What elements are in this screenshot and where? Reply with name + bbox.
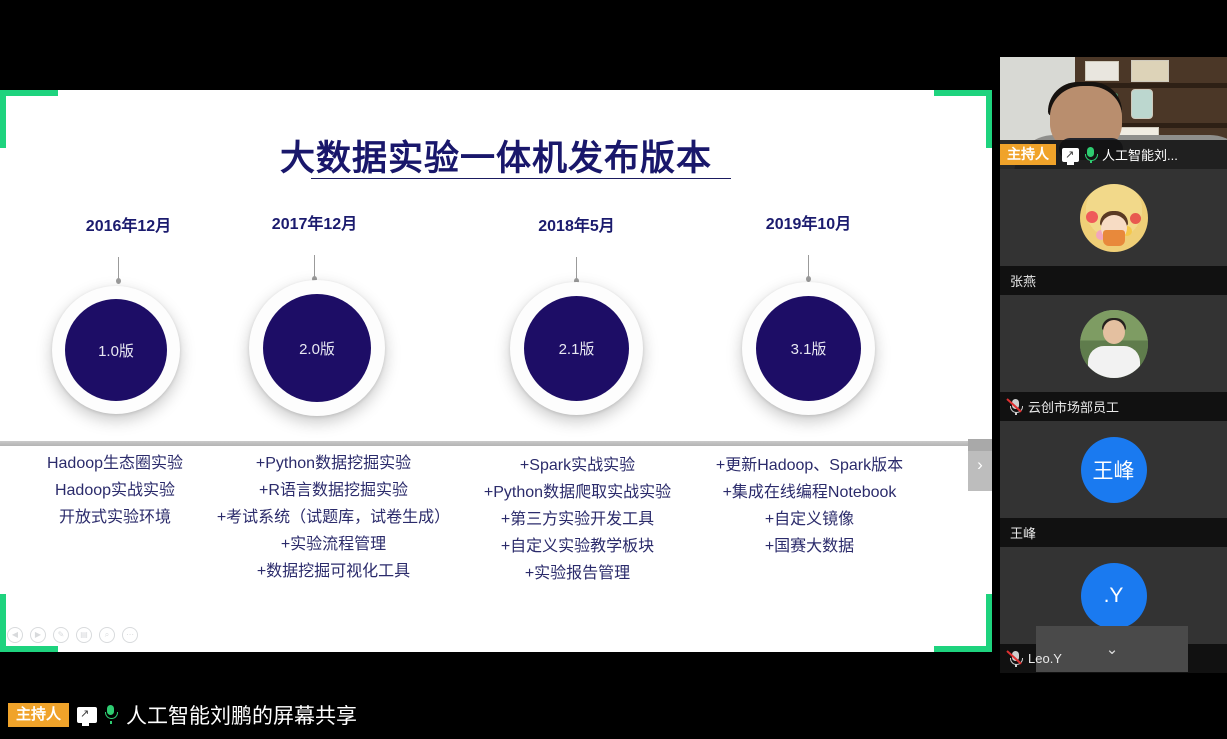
timeline-item: +第三方实验开发工具 bbox=[450, 506, 705, 533]
zoom-icon[interactable]: ⌕ bbox=[99, 627, 115, 643]
timeline-item: +自定义实验教学板块 bbox=[450, 533, 705, 560]
timeline-item: +Spark实战实验 bbox=[450, 452, 705, 479]
share-border-corner-bottom-right bbox=[934, 594, 992, 652]
expand-panel-chevron-right-icon[interactable]: › bbox=[968, 439, 992, 491]
share-status-title: 人工智能刘鹏的屏幕共享 bbox=[126, 700, 357, 730]
timeline-version-1: 1.0版 bbox=[98, 340, 134, 361]
timeline-date-1: 2016年12月 bbox=[56, 212, 201, 236]
participant-name-bar: 王峰 bbox=[1000, 518, 1227, 547]
avatar-initials: 王峰 bbox=[1081, 437, 1147, 503]
timeline-item: +数据挖掘可视化工具 bbox=[191, 558, 476, 585]
microphone-muted-icon bbox=[1010, 399, 1021, 415]
timeline-item: +更新Hadoop、Spark版本 bbox=[682, 452, 937, 479]
participant-name: 人工智能刘... bbox=[1102, 145, 1178, 164]
participant-name-bar: 张燕 bbox=[1000, 266, 1227, 295]
timeline-items-4: +更新Hadoop、Spark版本 +集成在线编程Notebook +自定义镜像… bbox=[682, 452, 937, 560]
timeline-date-3: 2018年5月 bbox=[504, 212, 649, 236]
host-name-bar: 主持人 ↗ 人工智能刘... bbox=[1000, 140, 1227, 169]
timeline-items-2: +Python数据挖掘实验 +R语言数据挖掘实验 +考试系统（试题库，试卷生成）… bbox=[191, 450, 476, 585]
slide-title: 大数据实验一体机发布版本 bbox=[0, 130, 992, 181]
timeline-item: +Python数据挖掘实验 bbox=[191, 450, 476, 477]
participant-name-bar: Leo.Y ⌄ bbox=[1000, 644, 1227, 673]
slide-title-underline bbox=[311, 178, 731, 179]
timeline-axis bbox=[0, 441, 992, 446]
timeline-item: +集成在线编程Notebook bbox=[682, 479, 937, 506]
avatar-initials: .Y bbox=[1081, 563, 1147, 629]
microphone-muted-icon bbox=[1010, 651, 1021, 667]
timeline-circle-4: 3.1版 bbox=[742, 282, 875, 415]
host-badge: 主持人 bbox=[8, 703, 69, 727]
participant-tile-wangfeng[interactable]: 王峰 王峰 bbox=[1000, 421, 1227, 547]
participant-tile-zhangyan[interactable]: 张燕 bbox=[1000, 169, 1227, 295]
share-status-bar: 主持人 ↗ 人工智能刘鹏的屏幕共享 bbox=[0, 690, 1008, 739]
host-video: 主持人 ↗ 人工智能刘... bbox=[1000, 57, 1227, 169]
microphone-icon bbox=[1085, 147, 1096, 163]
timeline-item: +考试系统（试题库，试卷生成） bbox=[191, 504, 476, 531]
timeline-item: +自定义镜像 bbox=[682, 506, 937, 533]
timeline-date-2: 2017年12月 bbox=[242, 210, 387, 234]
host-badge: 主持人 bbox=[1000, 144, 1056, 165]
avatar: 王峰 bbox=[1000, 421, 1227, 518]
meeting-window: 大数据实验一体机发布版本 2016年12月 1.0版 Hadoop生态圈实验 H… bbox=[0, 0, 1227, 739]
timeline-pin-3 bbox=[576, 257, 577, 280]
share-border-corner-bottom-left bbox=[0, 594, 58, 652]
ppt-mini-toolbar[interactable]: ◀ ▶ ✎ ▤ ⌕ ⋯ bbox=[7, 627, 138, 643]
timeline-circle-1: 1.0版 bbox=[52, 286, 180, 414]
timeline-circle-2: 2.0版 bbox=[249, 280, 385, 416]
chevron-down-icon[interactable]: ⌄ bbox=[1106, 640, 1119, 658]
timeline-circle-3: 2.1版 bbox=[510, 282, 643, 415]
timeline-items-3: +Spark实战实验 +Python数据爬取实战实验 +第三方实验开发工具 +自… bbox=[450, 452, 705, 587]
timeline-version-3: 2.1版 bbox=[559, 338, 595, 359]
avatar bbox=[1000, 295, 1227, 392]
timeline-date-4: 2019年10月 bbox=[736, 210, 881, 234]
shared-screen-region: 大数据实验一体机发布版本 2016年12月 1.0版 Hadoop生态圈实验 H… bbox=[0, 90, 992, 652]
participant-name: Leo.Y bbox=[1028, 651, 1062, 666]
avatar bbox=[1000, 169, 1227, 266]
participant-name: 云创市场部员工 bbox=[1028, 397, 1119, 416]
participant-tile-host[interactable]: 主持人 ↗ 人工智能刘... bbox=[1000, 57, 1227, 169]
play-icon[interactable]: ▶ bbox=[30, 627, 46, 643]
participant-name: 王峰 bbox=[1010, 523, 1036, 542]
screen-share-icon: ↗ bbox=[1062, 148, 1079, 162]
participant-tile-yunchuang[interactable]: 云创市场部员工 bbox=[1000, 295, 1227, 421]
participant-tile-leoy[interactable]: .Y Leo.Y ⌄ bbox=[1000, 547, 1227, 673]
timeline-item: +实验报告管理 bbox=[450, 560, 705, 587]
participant-name: 张燕 bbox=[1010, 271, 1036, 290]
previous-icon[interactable]: ◀ bbox=[7, 627, 23, 643]
microphone-icon bbox=[105, 705, 118, 724]
slide-icon[interactable]: ▤ bbox=[76, 627, 92, 643]
timeline-item: +实验流程管理 bbox=[191, 531, 476, 558]
timeline-item: +R语言数据挖掘实验 bbox=[191, 477, 476, 504]
screen-share-icon: ↗ bbox=[77, 707, 97, 723]
timeline-item: +Python数据爬取实战实验 bbox=[450, 479, 705, 506]
timeline-item: +国赛大数据 bbox=[682, 533, 937, 560]
timeline-pin-2 bbox=[314, 255, 315, 278]
timeline-version-2: 2.0版 bbox=[299, 338, 335, 359]
participant-name-bar: 云创市场部员工 bbox=[1000, 392, 1227, 421]
timeline-pin-4 bbox=[808, 255, 809, 278]
participant-strip: 主持人 ↗ 人工智能刘... 张燕 bbox=[1000, 57, 1227, 684]
timeline-pin-1 bbox=[118, 257, 119, 280]
timeline-version-4: 3.1版 bbox=[791, 338, 827, 359]
pen-icon[interactable]: ✎ bbox=[53, 627, 69, 643]
more-icon[interactable]: ⋯ bbox=[122, 627, 138, 643]
